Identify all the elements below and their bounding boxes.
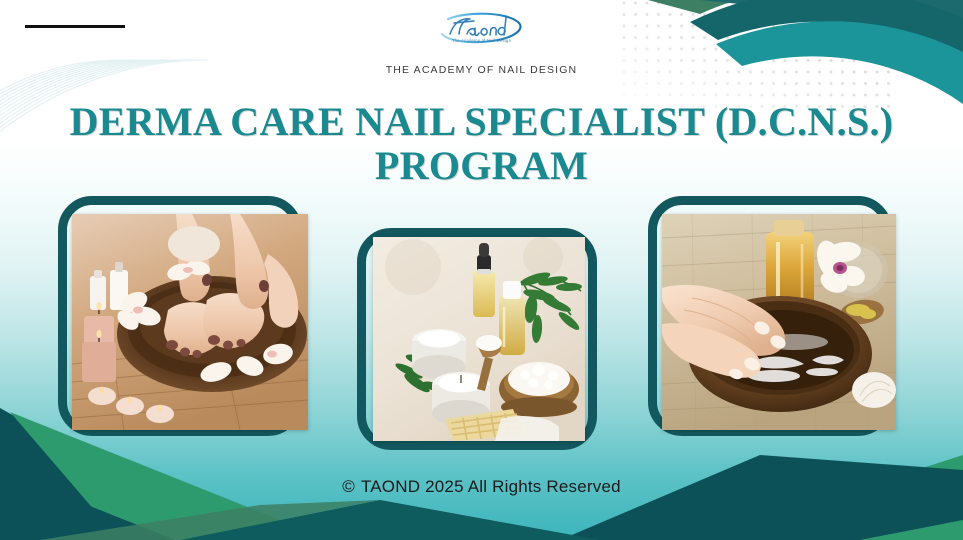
slide-canvas: The Academy of Nail Design THE ACADEMY O… (0, 0, 963, 540)
logo-tagline: The Academy of Nail Design (434, 38, 530, 43)
image-card-hand-soak (648, 196, 900, 448)
academy-subtitle: THE ACADEMY OF NAIL DESIGN (0, 64, 963, 76)
footer-copyright: ©TAOND 2025 All Rights Reserved (0, 477, 963, 497)
page-title-line-2: PROGRAM (375, 143, 588, 188)
copyright-icon: © (342, 477, 355, 496)
taond-script-logo-icon (434, 10, 530, 52)
card-photo (662, 214, 896, 430)
page-title-line-1: DERMA CARE NAIL SPECIALIST (D.C.N.S.) (70, 99, 894, 144)
slide-header: The Academy of Nail Design THE ACADEMY O… (0, 0, 963, 76)
image-card-pedicure (58, 196, 310, 448)
card-photo (72, 214, 308, 430)
footer-text: TAOND 2025 All Rights Reserved (361, 477, 621, 496)
page-title: DERMA CARE NAIL SPECIALIST (D.C.N.S.) PR… (60, 100, 903, 188)
card-photo (373, 237, 585, 441)
image-card-spa-products (357, 228, 607, 454)
taond-logo: The Academy of Nail Design (434, 10, 530, 52)
